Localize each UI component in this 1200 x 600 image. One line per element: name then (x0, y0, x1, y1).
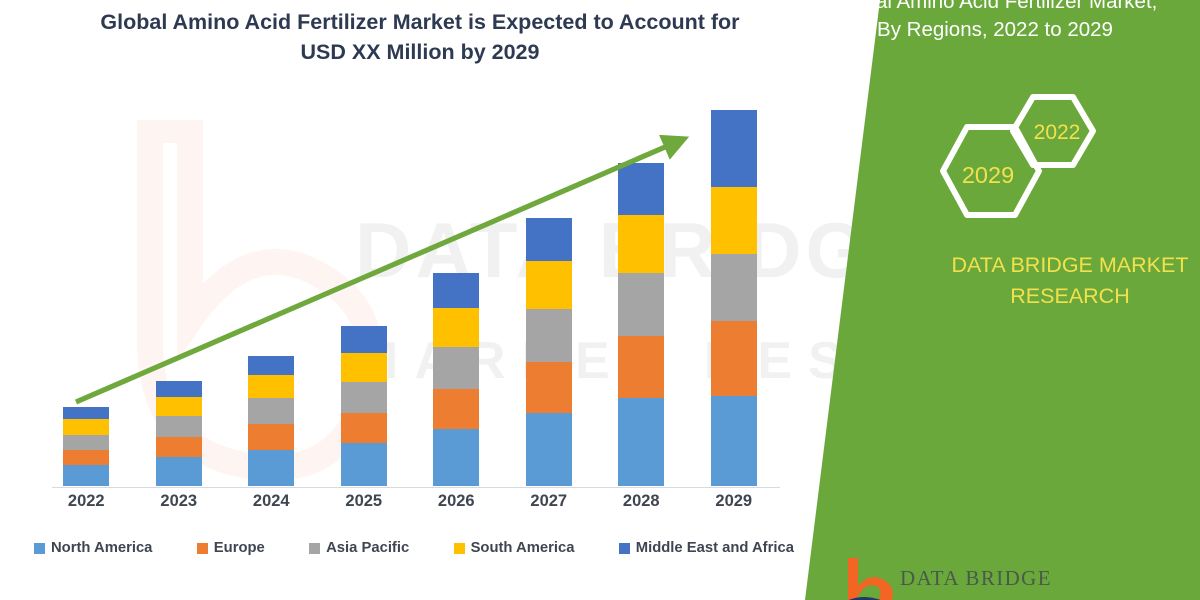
bar-segment (156, 437, 202, 457)
bar-stack-2028 (618, 163, 664, 486)
bar-stack-2023 (156, 381, 202, 486)
x-axis-tick-2023: 2023 (136, 492, 222, 511)
bar-segment (526, 218, 572, 261)
brand-name: DATA BRIDGE MARKET RESEARCH (935, 250, 1200, 312)
x-axis-tick-2027: 2027 (506, 492, 592, 511)
legend-swatch-icon (309, 543, 320, 554)
bar-segment (156, 457, 202, 486)
bar-segment (711, 187, 757, 254)
legend-swatch-icon (454, 543, 465, 554)
chart-legend: North AmericaEuropeAsia PacificSouth Ame… (34, 540, 794, 556)
data-bridge-logo-text: DATA BRIDGE (900, 566, 1052, 591)
bar-segment (63, 465, 109, 486)
bar-segment (433, 273, 479, 308)
stacked-bars-container (40, 110, 780, 486)
bar-segment (248, 356, 294, 375)
bar-segment (433, 308, 479, 347)
bar-segment (526, 309, 572, 362)
legend-label: South America (471, 540, 575, 556)
bar-column (228, 110, 314, 486)
legend-label: North America (51, 540, 152, 556)
legend-swatch-icon (34, 543, 45, 554)
legend-item[interactable]: Europe (197, 540, 265, 556)
bar-segment (526, 261, 572, 309)
chart-title-line-2: USD XX Million by 2029 (301, 40, 540, 64)
x-axis-tick-2029: 2029 (691, 492, 777, 511)
bar-column (43, 110, 129, 486)
x-axis-tick-2022: 2022 (43, 492, 129, 511)
bar-segment (63, 450, 109, 465)
brand-name-line-2: RESEARCH (1010, 284, 1129, 308)
bar-segment (618, 398, 664, 486)
infographic-root: DATA BRIDGE MARKET RESEARCH Global Amino… (0, 0, 1200, 600)
bar-segment (618, 336, 664, 398)
chart-title: Global Amino Acid Fertilizer Market is E… (60, 8, 780, 67)
chart-plot-area (40, 110, 780, 486)
bar-segment (526, 362, 572, 414)
legend-item[interactable]: Middle East and Africa (619, 540, 794, 556)
bar-segment (341, 413, 387, 443)
bar-segment (248, 450, 294, 486)
bar-column (691, 110, 777, 486)
hexagon-label-end-year: 2029 (946, 162, 1030, 189)
bar-segment (341, 443, 387, 486)
bar-stack-2027 (526, 218, 572, 486)
legend-label: Europe (214, 540, 265, 556)
bar-column (413, 110, 499, 486)
bar-segment (618, 163, 664, 215)
bar-segment (711, 321, 757, 396)
bar-column (321, 110, 407, 486)
bar-stack-2026 (433, 273, 479, 486)
bar-segment (526, 413, 572, 486)
bar-stack-2025 (341, 326, 387, 486)
legend-item[interactable]: South America (454, 540, 575, 556)
data-bridge-logo: DATA BRIDGE (840, 556, 1190, 600)
bar-column (598, 110, 684, 486)
bar-segment (341, 353, 387, 382)
bar-stack-2024 (248, 356, 294, 486)
panel-title-line-2: By Regions, 2022 to 2029 (877, 18, 1113, 41)
legend-swatch-icon (197, 543, 208, 554)
bar-segment (711, 254, 757, 321)
x-axis-labels: 20222023202420252026202720282029 (40, 492, 780, 511)
legend-label: Asia Pacific (326, 540, 409, 556)
bar-column (136, 110, 222, 486)
bar-segment (341, 382, 387, 413)
chart-title-line-1: Global Amino Acid Fertilizer Market is E… (100, 10, 739, 34)
bar-segment (156, 397, 202, 416)
data-bridge-logo-mark-icon (840, 556, 898, 600)
bar-stack-2029 (711, 110, 757, 486)
x-axis-tick-2026: 2026 (413, 492, 499, 511)
bar-segment (341, 326, 387, 353)
legend-swatch-icon (619, 543, 630, 554)
bar-segment (156, 381, 202, 397)
bar-column (506, 110, 592, 486)
x-axis-tick-2025: 2025 (321, 492, 407, 511)
bar-segment (63, 435, 109, 450)
bar-segment (63, 407, 109, 420)
bar-segment (433, 389, 479, 430)
bar-segment (433, 429, 479, 486)
bar-segment (618, 215, 664, 273)
brand-name-line-1: DATA BRIDGE MARKET (952, 253, 1189, 277)
bar-segment (248, 424, 294, 450)
legend-label: Middle East and Africa (636, 540, 794, 556)
bar-segment (711, 110, 757, 187)
panel-title-line-1: Global Amino Acid Fertilizer Market, (833, 0, 1158, 13)
bar-segment (711, 396, 757, 486)
x-axis-line (52, 487, 780, 488)
bar-segment (63, 419, 109, 434)
bar-segment (618, 273, 664, 336)
bar-stack-2022 (63, 407, 109, 486)
x-axis-tick-2024: 2024 (228, 492, 314, 511)
bar-segment (248, 375, 294, 399)
x-axis-tick-2028: 2028 (598, 492, 684, 511)
bar-segment (248, 398, 294, 424)
bar-segment (433, 347, 479, 389)
bar-segment (156, 416, 202, 436)
legend-item[interactable]: North America (34, 540, 152, 556)
panel-title: Global Amino Acid Fertilizer Market, By … (800, 0, 1190, 43)
legend-item[interactable]: Asia Pacific (309, 540, 409, 556)
hexagon-label-start-year: 2022 (1020, 121, 1094, 145)
